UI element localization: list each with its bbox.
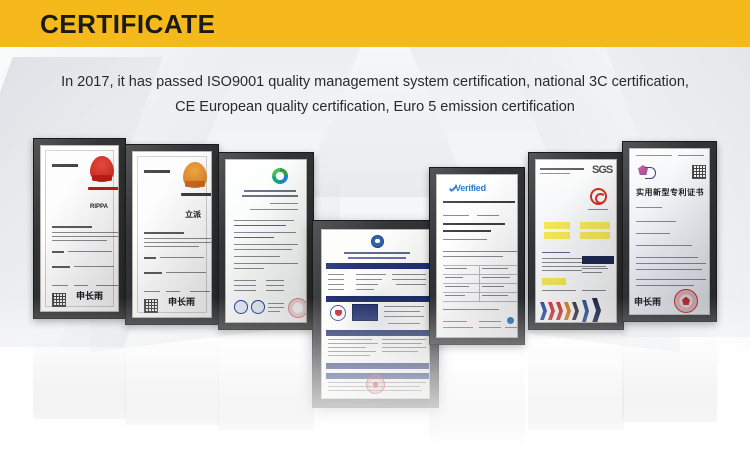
decorative-chevron-5	[572, 302, 579, 320]
frame-mat: Verified	[436, 174, 518, 338]
patent-title: 实用新型专利证书	[636, 187, 704, 198]
certification-stamp-icon	[288, 298, 306, 318]
iso-certification-body-logo-icon	[272, 168, 288, 184]
company-logo-icon	[330, 305, 346, 321]
iso-title-line-1	[244, 190, 296, 192]
qr-code-icon	[52, 293, 66, 307]
document-header-label	[144, 170, 170, 173]
certificate-heading-chinese	[181, 193, 211, 196]
certificate-frame-sgs-ce[interactable]: SGS	[528, 152, 624, 330]
reflection-frame-1	[33, 319, 126, 419]
reflection-frame-5	[429, 345, 525, 445]
certificate-document-trademark-rippa: RIPPA 申长雨	[41, 146, 118, 311]
verified-logo-text: Verified	[455, 183, 486, 193]
decorative-chevron-4	[564, 302, 571, 320]
certificate-frame-supplier-capability[interactable]	[312, 220, 439, 408]
company-name	[443, 223, 505, 225]
document-inner-border: RIPPA 申长雨	[45, 150, 114, 307]
reflection-frame-2	[125, 325, 219, 425]
highlighted-field-2	[580, 222, 610, 229]
decorative-chevron-2	[548, 302, 555, 320]
document-header-label	[52, 164, 78, 167]
certificate-document-utility-patent: 实用新型专利证书 申长雨	[630, 149, 709, 314]
reflection-frame-3	[218, 330, 314, 430]
certificate-page: CERTIFICATE In 2017, it has passed ISO90…	[0, 0, 750, 466]
reflection-frame-4	[312, 408, 439, 466]
certificate-frame-trademark-rippa[interactable]: RIPPA 申长雨	[33, 138, 126, 319]
iso-title-line-2	[242, 195, 298, 197]
decorative-chevron-7	[592, 298, 601, 322]
verification-badge-icon	[507, 317, 514, 324]
highlighted-field-5	[542, 278, 566, 285]
certificate-frame-trademark-lipai[interactable]: 立派 申长雨	[125, 144, 219, 325]
official-signature: 申长雨	[168, 295, 195, 308]
certificate-subtitle	[443, 201, 515, 203]
cnas-accreditation-mark-icon	[234, 300, 248, 314]
frame-mat: RIPPA 申长雨	[40, 145, 119, 312]
national-emblem-icon	[183, 162, 207, 188]
official-seal-icon	[366, 375, 385, 394]
decorative-chevron-6	[582, 300, 589, 322]
highlighted-field-4	[580, 232, 610, 239]
certificate-document-iso9001	[226, 160, 306, 322]
reflection-frame-7	[622, 322, 717, 422]
highlighted-field-1	[544, 222, 570, 229]
official-seal-icon	[674, 289, 698, 313]
highlighted-field-3	[544, 232, 570, 239]
page-banner: CERTIFICATE	[0, 0, 750, 47]
reflection-frame-6	[528, 330, 624, 430]
patent-office-logo-icon	[638, 165, 656, 179]
document-inner-border: 立派 申长雨	[137, 156, 207, 313]
section-header-bar	[326, 330, 429, 336]
frame-mat: 立派 申长雨	[132, 151, 212, 318]
frame-mat	[225, 159, 307, 323]
authorized-signature	[398, 378, 400, 386]
issuing-authority-logo-icon	[371, 235, 384, 248]
official-signature: 申长雨	[634, 295, 661, 308]
decorative-chevron-3	[556, 302, 563, 320]
certificate-gallery-stage: In 2017, it has passed ISO9001 quality m…	[0, 47, 750, 466]
intro-paragraph: In 2017, it has passed ISO9001 quality m…	[50, 70, 700, 120]
official-signature: 申长雨	[76, 289, 103, 302]
section-header-bar	[326, 363, 429, 369]
frame-mat: SGS	[535, 159, 617, 323]
signature-block	[582, 256, 614, 264]
assessment-results-table	[443, 265, 517, 301]
certificate-frame-iso9001[interactable]	[218, 152, 314, 330]
decorative-chevron-1	[540, 302, 547, 320]
certificate-document-trademark-lipai: 立派 申长雨	[133, 152, 211, 317]
qr-code-icon	[144, 299, 158, 313]
certificate-frame-verified-supplier[interactable]: Verified	[429, 167, 525, 345]
certificate-heading-chinese	[88, 187, 118, 190]
certificate-document-verified-supplier: Verified	[437, 175, 517, 337]
qr-code-icon	[692, 165, 706, 179]
document-title	[344, 252, 410, 254]
brand-name: 立派	[170, 209, 211, 220]
sgs-logo-text: SGS	[592, 164, 612, 176]
certificate-document-supplier-capability	[322, 230, 429, 398]
certificate-document-sgs-ce: SGS	[536, 160, 616, 322]
iaf-accreditation-mark-icon	[251, 300, 265, 314]
certificate-frame-utility-patent[interactable]: 实用新型专利证书 申长雨	[622, 141, 717, 322]
national-emblem-icon	[90, 156, 114, 182]
product-photo	[352, 304, 378, 321]
page-title: CERTIFICATE	[40, 9, 215, 40]
brand-name: RIPPA	[76, 204, 118, 210]
frame-mat: 实用新型专利证书 申长雨	[629, 148, 710, 315]
section-header-bar	[326, 263, 429, 269]
ccc-certification-mark-icon	[590, 188, 607, 205]
frame-mat	[321, 229, 430, 399]
section-header-bar	[326, 296, 429, 302]
